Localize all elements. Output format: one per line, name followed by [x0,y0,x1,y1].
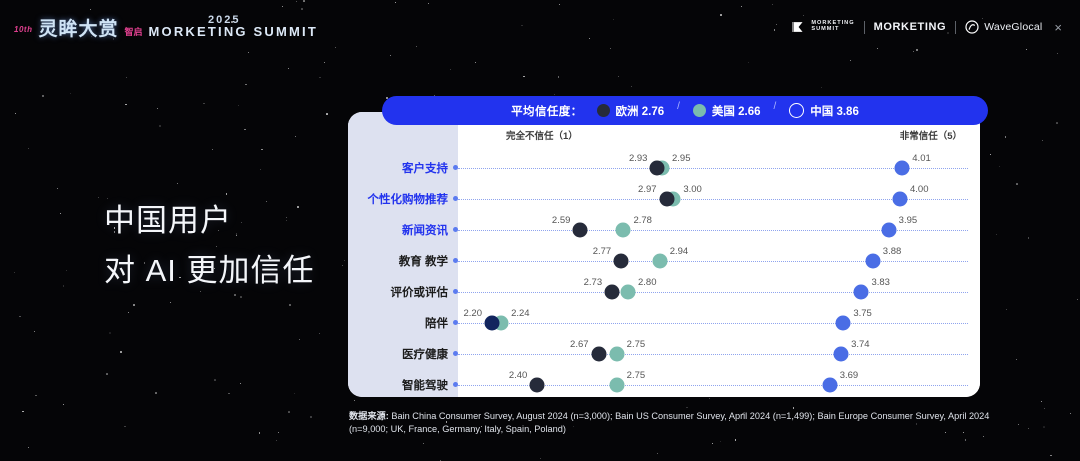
value-label-china-2: 3.95 [899,215,918,226]
row-gridline [458,323,968,324]
morketing-summit-logo: MORKETING SUMMIT [792,21,854,33]
row-gridline [458,292,968,293]
data-point-china-5[interactable] [836,315,851,330]
chart-row: 陪伴2.202.243.75 [348,307,980,338]
partner-logos: MORKETING SUMMIT MORKETING WaveGlocal × [792,20,1062,34]
value-label-china-0: 4.01 [912,153,931,164]
logo-divider-2 [955,21,956,34]
legend-item-europe[interactable]: 欧洲 2.76 [597,103,665,119]
top-bar: 10th 灵眸大赏 智启 MORKETING SUMMIT 2025 MORKE… [0,0,1080,56]
row-label-1: 个性化购物推荐 [348,191,448,207]
value-label-china-7: 3.69 [840,370,859,381]
data-point-china-4[interactable] [854,284,869,299]
data-point-china-1[interactable] [893,191,908,206]
legend-dot-china-icon [789,103,804,118]
row-gridline [458,168,968,169]
value-label-europe-4: 2.73 [584,277,603,288]
value-label-europe-1: 2.97 [638,184,657,195]
data-point-europe-0[interactable] [650,160,665,175]
headline-line-1: 中国用户 [104,196,315,246]
data-point-europe-5[interactable] [485,315,500,330]
legend-dot-europe-icon [597,104,610,117]
event-logo-left: 10th 灵眸大赏 智启 MORKETING SUMMIT [14,14,318,41]
data-point-us-6[interactable] [609,346,624,361]
chart-row: 医疗健康2.672.753.74 [348,338,980,369]
data-point-china-2[interactable] [881,222,896,237]
value-label-us-3: 2.94 [670,246,689,257]
legend-separator-2: / [773,101,776,112]
headline: 中国用户 对 AI 更加信任 [104,196,315,296]
morketing-logo: MORKETING [874,21,947,33]
data-point-europe-7[interactable] [530,377,545,392]
value-label-us-5: 2.24 [511,308,530,319]
data-point-us-7[interactable] [609,377,624,392]
value-label-china-4: 3.83 [871,277,890,288]
data-point-china-7[interactable] [822,377,837,392]
chart-row: 智能驾驶2.402.753.69 [348,369,980,397]
data-point-europe-4[interactable] [605,284,620,299]
row-label-6: 医疗健康 [348,346,448,362]
value-label-us-0: 2.95 [672,153,691,164]
value-label-us-7: 2.75 [627,370,646,381]
logo-chinese-name: 灵眸大赏 [38,14,118,41]
source-text: Bain China Consumer Survey, August 2024 … [349,411,989,434]
data-point-china-0[interactable] [895,160,910,175]
row-gridline [458,261,968,262]
legend-label-europe: 欧洲 2.76 [616,103,665,119]
source-note: 数据来源: Bain China Consumer Survey, August… [349,410,999,436]
chart-row: 教育 教学2.772.943.88 [348,245,980,276]
row-label-5: 陪伴 [348,315,448,331]
data-point-us-3[interactable] [652,253,667,268]
logo-sub-chinese: 智启 [124,25,142,38]
logo-edition-label: 10th [14,25,32,34]
value-label-europe-2: 2.59 [552,215,571,226]
legend-item-china[interactable]: 中国 3.86 [789,103,859,119]
summit-logo-line2: SUMMIT [811,27,854,33]
logo-english-name: MORKETING SUMMIT [148,24,318,39]
chart-legend: 平均信任度： 欧洲 2.76 / 美国 2.66 / 中国 3.86 [382,96,988,125]
logo-divider-1 [864,21,865,34]
waveglocal-logo: WaveGlocal [965,20,1042,34]
row-gridline [458,199,968,200]
value-label-china-6: 3.74 [851,339,870,350]
data-point-europe-6[interactable] [591,346,606,361]
row-label-4: 评价或评估 [348,284,448,300]
chart-card: 客户支持2.932.954.01个性化购物推荐2.973.004.00新闻资讯2… [348,112,980,397]
value-label-us-1: 3.00 [683,184,702,195]
chart-row: 新闻资讯2.592.783.95 [348,214,980,245]
legend-title: 平均信任度： [511,103,582,119]
data-point-europe-2[interactable] [573,222,588,237]
headline-line-2: 对 AI 更加信任 [104,246,315,296]
waveglocal-label: WaveGlocal [984,21,1042,33]
data-point-us-4[interactable] [621,284,636,299]
legend-separator-1: / [677,101,680,112]
value-label-us-6: 2.75 [627,339,646,350]
waveglocal-circle-icon [965,20,979,34]
close-icon[interactable]: × [1054,21,1062,34]
row-label-2: 新闻资讯 [348,222,448,238]
row-label-0: 客户支持 [348,160,448,176]
chart-row: 客户支持2.932.954.01 [348,152,980,183]
row-gridline [458,354,968,355]
value-label-china-3: 3.88 [883,246,902,257]
value-label-europe-7: 2.40 [509,370,528,381]
logo-year: 2025 [208,14,240,26]
data-point-china-3[interactable] [865,253,880,268]
chart-row: 评价或评估2.732.803.83 [348,276,980,307]
data-point-europe-1[interactable] [659,191,674,206]
data-point-china-6[interactable] [834,346,849,361]
value-label-us-4: 2.80 [638,277,657,288]
legend-item-us[interactable]: 美国 2.66 [693,103,761,119]
legend-dot-us-icon [693,104,706,117]
summit-flag-icon [792,21,807,33]
legend-label-us: 美国 2.66 [712,103,761,119]
value-label-us-2: 2.78 [633,215,652,226]
value-label-europe-6: 2.67 [570,339,589,350]
legend-label-china: 中国 3.86 [810,103,859,119]
value-label-europe-3: 2.77 [593,246,612,257]
chart-row: 个性化购物推荐2.973.004.00 [348,183,980,214]
value-label-china-1: 4.00 [910,184,929,195]
value-label-europe-5: 2.20 [464,308,483,319]
data-point-us-2[interactable] [616,222,631,237]
chart-rows: 客户支持2.932.954.01个性化购物推荐2.973.004.00新闻资讯2… [348,152,980,371]
row-label-3: 教育 教学 [348,253,448,269]
value-label-china-5: 3.75 [853,308,872,319]
row-label-7: 智能驾驶 [348,377,448,393]
value-label-europe-0: 2.93 [629,153,648,164]
source-prefix: 数据来源: [349,411,389,421]
data-point-europe-3[interactable] [614,253,629,268]
